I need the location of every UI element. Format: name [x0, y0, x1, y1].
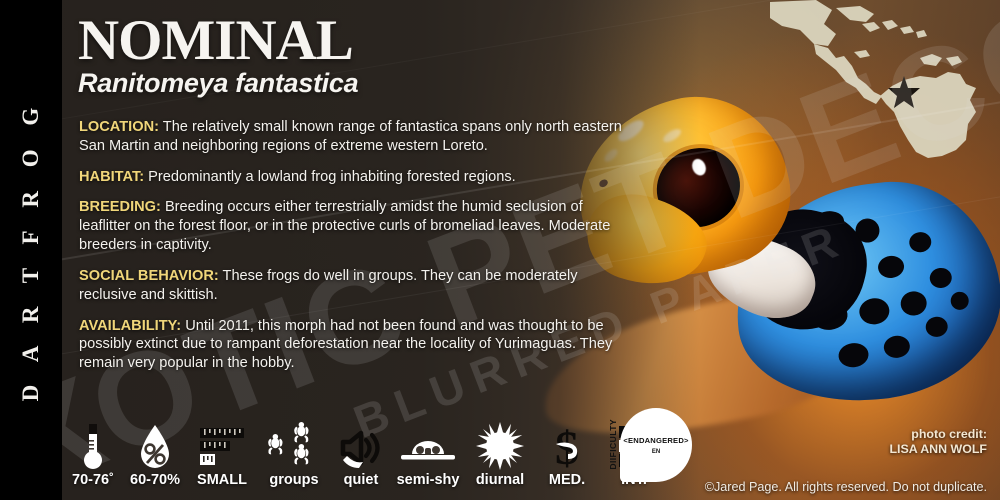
description-sections: LOCATION: The relatively small known ran… [79, 118, 624, 385]
hiding-frog-icon [398, 422, 458, 470]
section-habitat: HABITAT: Predominantly a lowland frog in… [79, 168, 624, 187]
section-location: LOCATION: The relatively small known ran… [79, 118, 624, 156]
section-text: Predominantly a lowland frog inhabiting … [144, 169, 516, 185]
care-item-call-volume: quiet [330, 412, 392, 488]
status-badge: <ENDANGERED> EN [620, 408, 692, 482]
photo-credit: photo credit: LISA ANN WOLF [889, 427, 987, 457]
care-caption: 70-76˚ [72, 472, 114, 488]
section-text: The relatively small known range of fant… [79, 119, 622, 154]
dollar-price-icon: $ [550, 422, 584, 470]
section-availability: AVAILABILITY: Until 2011, this morph had… [79, 317, 624, 373]
humidity-drop-icon [138, 422, 172, 470]
care-caption: diurnal [476, 472, 524, 488]
care-item-boldness: semi-shy [392, 412, 464, 488]
species-info-card: EXOTIC PET DECOR BLURRED PAPER D A R T F… [0, 0, 1000, 500]
copyright-notice: ©Jared Page. All rights reserved. Do not… [705, 480, 987, 494]
care-item-size: SMALL [186, 412, 258, 488]
ruler-size-icon [196, 422, 248, 470]
header: NOMINAL Ranitomeya fantastica [78, 14, 358, 97]
photographer-name: LISA ANN WOLF [889, 442, 987, 457]
status-badge-label: <ENDANGERED> [623, 436, 688, 445]
section-label: AVAILABILITY: [79, 318, 181, 334]
difficulty-vertical-label: DIIFICULTY [609, 417, 618, 470]
care-item-price: $ MED. [536, 412, 598, 488]
care-item-humidity: 60-70% [124, 412, 186, 488]
range-map-icon [770, 0, 1000, 160]
care-item-activity-period: diurnal [464, 412, 536, 488]
page-title: NOMINAL [78, 14, 358, 68]
section-label: HABITAT: [79, 169, 144, 185]
photo-credit-label: photo credit: [889, 427, 987, 442]
care-caption: quiet [344, 472, 379, 488]
section-label: LOCATION: [79, 119, 159, 135]
section-label: SOCIAL BEHAVIOR: [79, 268, 219, 284]
status-badge-code: EN [652, 449, 660, 455]
care-caption: MED. [549, 472, 585, 488]
care-caption: semi-shy [397, 472, 460, 488]
care-icon-strip: 70-76˚ 60-70% [62, 412, 670, 488]
thermometer-icon [80, 422, 106, 470]
spine-label: D A R T F R O G [18, 99, 44, 402]
sun-diurnal-icon [476, 422, 524, 470]
section-social-behavior: SOCIAL BEHAVIOR: These frogs do well in … [79, 267, 624, 305]
section-label: BREEDING: [79, 199, 161, 215]
care-caption: 60-70% [130, 472, 180, 488]
care-caption: SMALL [197, 472, 247, 488]
care-item-temperature: 70-76˚ [62, 412, 124, 488]
left-spine: D A R T F R O G [0, 0, 62, 500]
care-caption: groups [269, 472, 318, 488]
speaker-quiet-icon [339, 422, 383, 470]
section-breeding: BREEDING: Breeding occurs either terrest… [79, 198, 624, 254]
frog-group-icon [266, 422, 322, 470]
scientific-name: Ranitomeya fantastica [78, 69, 358, 97]
care-item-social-grouping: groups [258, 412, 330, 488]
